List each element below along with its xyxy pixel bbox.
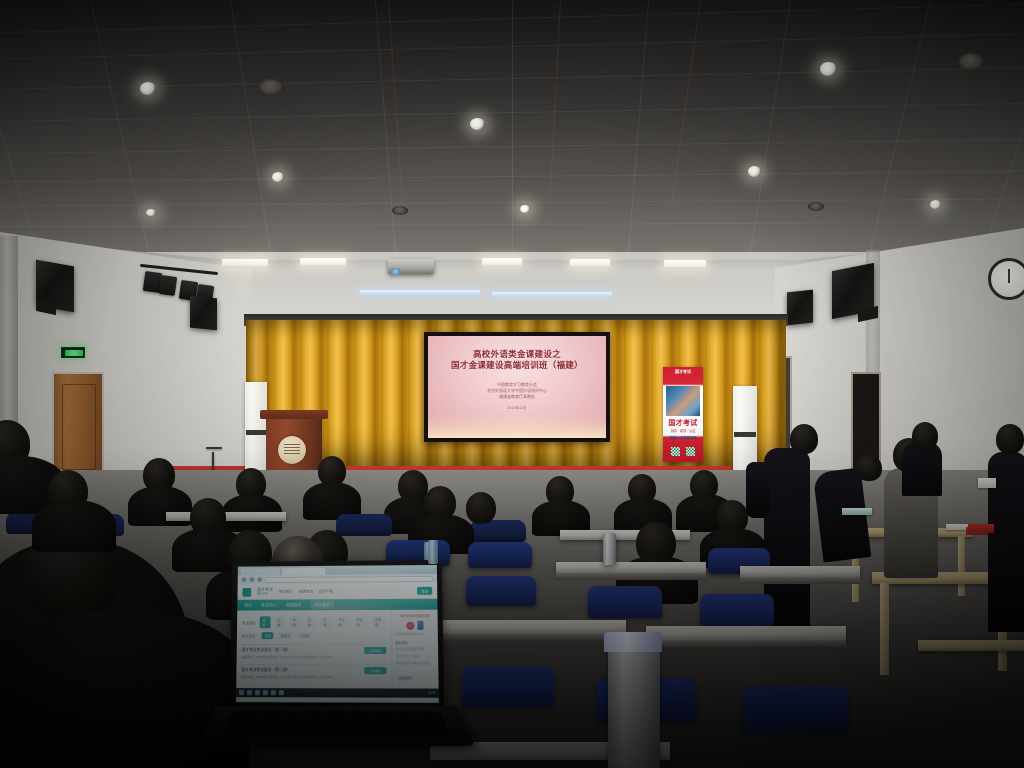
audience-chair — [700, 594, 774, 626]
desk-leg — [958, 536, 965, 596]
university-crest-icon — [278, 436, 306, 464]
site-nav-bar[interactable]: 首页 考试中心 成绩服务 考生服务 — [237, 599, 437, 611]
podium-top — [260, 410, 328, 419]
desk-front-panel — [556, 573, 706, 580]
filter-chip[interactable]: 高端级 — [372, 616, 386, 628]
side-bench — [918, 640, 1024, 651]
backpack — [746, 462, 770, 518]
sidebar-heading: 国才考试在线报名系统 — [395, 614, 434, 618]
door-panel — [62, 384, 97, 469]
nav-item-home[interactable]: 首页 — [244, 602, 252, 608]
site-logo-text: 国才考试 NCTE — [257, 587, 273, 596]
ceiling-downlight — [146, 209, 156, 216]
desk-front-panel — [646, 640, 846, 647]
cove-light-strip — [492, 292, 612, 297]
taskbar-clock[interactable]: 14:32 — [428, 691, 436, 695]
desk-front-panel — [740, 577, 860, 584]
filter-chip[interactable]: 专业级 — [336, 616, 350, 628]
wall-speaker-left-near — [190, 296, 217, 331]
page-body: 考试级别 全部 初级 中级 高级 高端 专业级 精英级 高端级 考试状态 — [236, 610, 438, 688]
audience-chair — [468, 542, 532, 568]
lecture-hall-photo: 高校外语类金课建设之 国才金课建设高端培训班（福建） 中国教育学习教育分会 北京… — [0, 0, 1024, 768]
ceiling-projector — [388, 259, 434, 274]
projection-screen: 高校外语类金课建设之 国才金课建设高端培训班（福建） 中国教育学习教育分会 北京… — [428, 336, 606, 438]
keyboard-keys[interactable] — [222, 711, 450, 735]
nav-item-exam-center[interactable]: 考试中心 — [261, 602, 277, 608]
standing-person-back — [902, 442, 942, 496]
person-head — [996, 424, 1024, 454]
taskview-icon[interactable] — [255, 690, 260, 695]
filter-chip[interactable]: 全部 — [259, 616, 270, 628]
forward-icon[interactable] — [249, 577, 254, 582]
audience-chair — [336, 514, 392, 536]
desk-front-panel — [430, 634, 626, 641]
ceiling-downlight — [140, 82, 156, 95]
header-link-2[interactable]: 成绩查询 — [299, 589, 313, 594]
filter-label: 考试状态 — [242, 633, 258, 638]
sidebar-icon-caption: 扫码关注官方微信公众号 — [395, 633, 435, 637]
ceiling-panel-light — [482, 258, 522, 267]
filter-chip[interactable]: 初级 — [274, 616, 285, 628]
door-left-wooden[interactable] — [52, 372, 104, 480]
filter-row-status[interactable]: 考试状态 全部 报名中 已结束 — [242, 632, 386, 639]
banner-brand: 国才考试 — [663, 369, 703, 375]
audience-shoulders — [32, 500, 116, 552]
audience-desk — [166, 512, 286, 521]
search-icon[interactable] — [247, 690, 252, 695]
site-header: 国才考试 NCTE 考试报名 成绩查询 证书下载 登录 — [237, 583, 437, 600]
filter-chip[interactable]: 精英级 — [354, 616, 368, 628]
ceiling-downlight — [930, 200, 941, 209]
slide-title: 高校外语类金课建设之 国才金课建设高端培训班（福建） — [451, 349, 583, 372]
audience-desk — [646, 626, 846, 640]
cove-light-strip — [360, 290, 480, 295]
ceiling-panel-light — [300, 258, 346, 267]
explorer-icon[interactable] — [271, 690, 276, 695]
sidebar-detail-button[interactable]: 查看详情 — [396, 674, 415, 681]
result-item[interactable]: 国才考试考试报名（第一期） 立即报名 报名时间：2019年12月01日 - 20… — [242, 644, 387, 659]
laptop-lid: 国才考试 NCTE 考试报名 成绩查询 证书下载 登录 首页 考试中心 成绩服务… — [230, 560, 444, 709]
ceiling-panel-light — [222, 259, 268, 268]
url-input[interactable] — [265, 575, 433, 582]
rollup-banner: 国才考试 国才考试 测评 · 培训 · 认证 职场人才测评标准 — [663, 367, 703, 462]
sidebar-note-title: 报名须知 — [395, 641, 435, 645]
filter-row-level[interactable]: 考试级别 全部 初级 中级 高级 高端 专业级 精英级 高端级 — [242, 616, 386, 628]
audience-chair — [588, 586, 662, 618]
thermos-flask-back — [603, 533, 616, 565]
slide-glow-band — [428, 414, 606, 438]
sidebar-card: 国才考试在线报名系统 扫码关注官方微信公众号 报名须知 请考生认真阅读报名须知 … — [391, 610, 439, 688]
result-meta: 报名时间：2020年01月05日 - 2020年01月25日 考试时间：02月1… — [241, 675, 386, 679]
browser-taskbar-icon[interactable] — [263, 690, 268, 695]
thermos-flask-foreground — [608, 644, 660, 768]
back-icon[interactable] — [242, 577, 247, 582]
site-logo-icon — [242, 587, 251, 596]
suspended-ceiling — [0, 0, 1024, 262]
ceiling-air-vent — [958, 53, 984, 70]
register-button[interactable]: 立即报名 — [364, 667, 386, 674]
audience-head — [466, 492, 496, 524]
audience-chair — [466, 576, 536, 606]
wall-clock — [988, 258, 1024, 300]
nav-item-candidate-service[interactable]: 考生服务 — [310, 600, 334, 609]
start-button-icon[interactable] — [239, 690, 244, 695]
sidebar-note-line-1: 请考生认真阅读报名须知 — [395, 648, 435, 652]
ceiling-downlight — [820, 62, 837, 76]
held-document — [842, 508, 872, 515]
nav-item-score[interactable]: 成绩服务 — [285, 602, 301, 608]
browser-tab-active[interactable] — [282, 568, 325, 575]
laptop-keyboard[interactable] — [197, 706, 475, 746]
qr-code-icon — [686, 447, 695, 456]
person-head — [912, 422, 938, 450]
sidebar-note-line-2: 并如实填写个人信息 — [395, 655, 435, 659]
mobile-phone-icon — [417, 621, 423, 630]
ceiling-air-vent — [258, 79, 284, 95]
windows-taskbar[interactable]: 14:32 — [236, 688, 439, 698]
person-head — [790, 424, 818, 454]
stage-par-light — [159, 275, 177, 296]
red-item-on-desk — [968, 524, 994, 533]
filter-chip[interactable]: 已结束 — [297, 632, 312, 639]
audience-desk — [430, 620, 626, 634]
ceiling-tile-grid — [0, 0, 1024, 262]
filter-chip[interactable]: 高级 — [305, 616, 316, 628]
ceiling-downlight — [470, 118, 485, 130]
filter-label: 考试级别 — [242, 620, 255, 625]
audience-desk — [740, 566, 860, 577]
ceiling-air-vent — [392, 206, 408, 215]
desk-leg — [880, 583, 889, 675]
sidebar-icons — [395, 621, 435, 630]
result-meta: 报名时间：2019年12月01日 - 2019年12月20日 考试时间：12月2… — [242, 655, 387, 659]
water-bottle-blue — [428, 540, 438, 564]
banner-subtext: 测评 · 培训 · 认证 — [663, 428, 703, 433]
main-column: 考试级别 全部 初级 中级 高级 高端 专业级 精英级 高端级 考试状态 — [236, 610, 391, 688]
ceiling-downlight — [272, 172, 284, 182]
exit-sign — [61, 347, 85, 358]
sidebar-note-line-3: 报名成功后不可修改考点信息 — [396, 662, 436, 666]
mic-cable — [206, 447, 222, 449]
slide-subtitle: 中国教育学习教育分会 北京外国语大学中国外语测评中心 福建省教育厅高教处 — [487, 382, 547, 400]
mic-stand — [212, 452, 214, 472]
laptop-screen[interactable]: 国才考试 NCTE 考试报名 成绩查询 证书下载 登录 首页 考试中心 成绩服务… — [236, 565, 439, 703]
wechat-badge-icon — [406, 621, 414, 629]
register-button[interactable]: 立即报名 — [364, 647, 386, 654]
browser-tab[interactable] — [241, 568, 280, 575]
filter-chip[interactable]: 高端 — [320, 616, 331, 628]
header-link-3[interactable]: 证书下载 — [319, 589, 333, 594]
banner-tagline: 职场人才测评标准 — [663, 435, 703, 440]
audience-chair — [462, 666, 554, 708]
banner-photo — [666, 386, 700, 416]
reload-icon[interactable] — [257, 577, 262, 582]
held-paper — [978, 478, 996, 488]
slide-date: 2019年12月 — [507, 406, 526, 411]
audience-desk — [556, 562, 706, 573]
header-link-1[interactable]: 考试报名 — [279, 589, 293, 594]
result-item[interactable]: 国才考试考试报名（第二期） 立即报名 报名时间：2020年01月05日 - 20… — [241, 664, 386, 679]
login-button[interactable]: 登录 — [417, 587, 432, 595]
person-head — [856, 455, 882, 481]
ceiling-downlight — [748, 166, 761, 177]
thermos-lid — [604, 632, 662, 652]
qr-code-icon — [671, 447, 680, 456]
ceiling-panel-light — [570, 259, 610, 268]
filter-chip[interactable]: 全部 — [262, 632, 274, 639]
laptop: 国才考试 NCTE 考试报名 成绩查询 证书下载 登录 首页 考试中心 成绩服务… — [200, 560, 458, 768]
filter-chip[interactable]: 中级 — [290, 616, 301, 628]
filter-chip[interactable]: 报名中 — [278, 632, 293, 639]
banner-headline: 国才考试 — [663, 418, 703, 428]
projection-screen-frame: 高校外语类金课建设之 国才金课建设高端培训班（福建） 中国教育学习教育分会 北京… — [424, 332, 610, 442]
audience-chair — [742, 686, 848, 734]
ceiling-air-vent — [808, 202, 824, 211]
ceiling-downlight — [520, 205, 530, 213]
wall-speaker-right-near — [787, 290, 813, 326]
ceiling-panel-light — [664, 260, 706, 269]
mail-icon[interactable] — [279, 690, 284, 695]
